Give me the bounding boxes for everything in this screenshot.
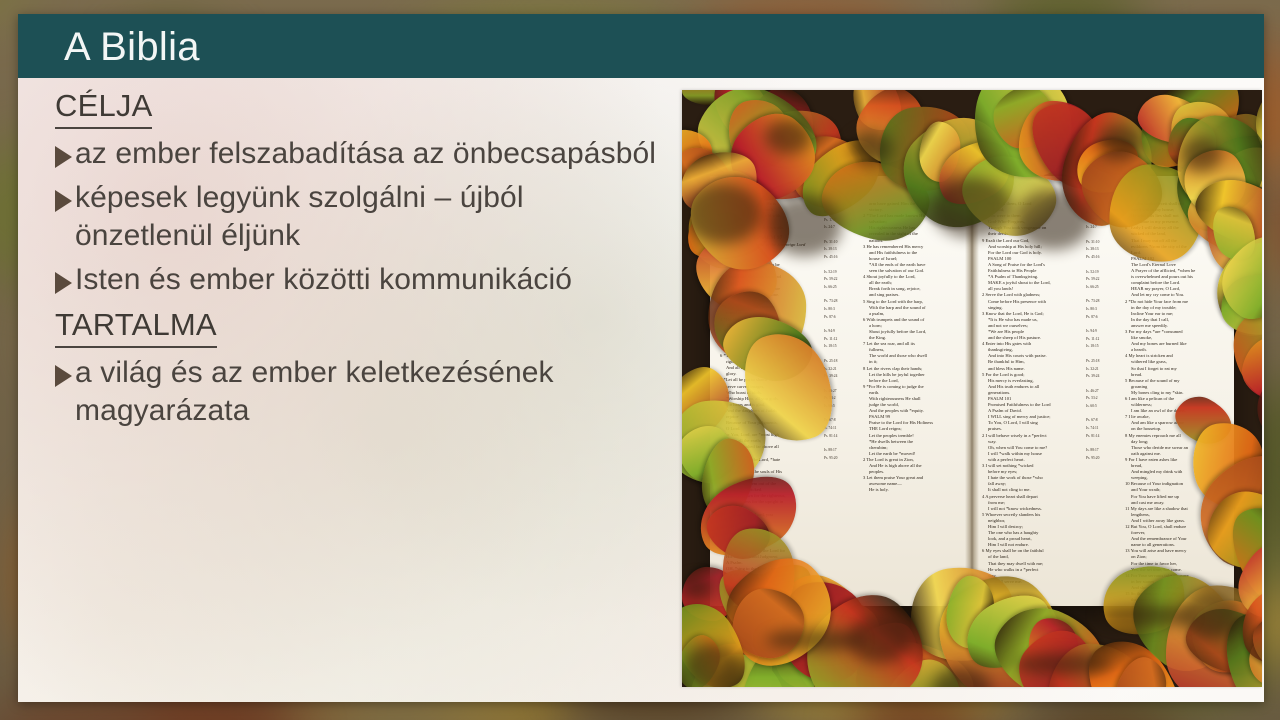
section-heading-row: TARTALMA (38, 305, 668, 350)
cross-reference-mark: Ps. 67:8 (1086, 418, 1120, 424)
list-item-label: képesek legyünk szolgálni – újból önzetl… (75, 179, 668, 255)
leaf-shadow-gap (1097, 125, 1142, 160)
cross-reference-mark: Ps. 87:6 (824, 315, 858, 321)
leaf-shadow-gap (682, 577, 712, 599)
cross-reference-mark: Ps. 25:18 (824, 359, 858, 365)
cross-reference-mark: Ps. 81:14 (1086, 434, 1120, 440)
cross-reference-mark: Ps. 95:20 (824, 456, 858, 462)
slide-body-content: CÉLJA az ember felszabadítása az önbecsa… (38, 86, 668, 436)
cross-reference-mark: Is. 46:27 (1086, 389, 1120, 395)
cross-reference-mark: Is. 32:21 (1086, 367, 1120, 373)
list-item: Isten és ember közötti kommunikáció (38, 261, 668, 299)
triangle-bullet-icon (55, 272, 72, 294)
leaf-shadow-gap (767, 195, 842, 256)
slide-canvas: A Biblia CÉLJA az ember felszabadítása a… (18, 14, 1264, 702)
triangle-bullet-icon (55, 190, 72, 212)
slide-title-bar: A Biblia (18, 14, 1264, 78)
section-heading-tartalma: TARTALMA (55, 305, 217, 348)
cross-reference-mark: Is. 94:9 (824, 329, 858, 335)
cross-reference-mark: Is. 18:15 (1086, 344, 1120, 350)
cross-reference-mark: Ps. 11:12 (824, 337, 858, 343)
right-cross-reference-column: Is. 10:1Ps. 17:4Is. 24:7Ps. 31:10Is. 38:… (1086, 201, 1120, 603)
leaf-shadow-gap (766, 629, 862, 651)
section-heading-row: CÉLJA (38, 86, 668, 131)
list-item: képesek legyünk szolgálni – újból önzetl… (38, 179, 668, 255)
cross-reference-mark: Is. 88:17 (1086, 448, 1120, 454)
cross-reference-mark: Ps. 45:16 (1086, 255, 1120, 261)
list-item: a világ és az ember keletkezésének magya… (38, 354, 668, 430)
right-col-a: answered them, O Lordour God;You were to… (982, 201, 1081, 603)
cross-reference-mark: Ps. 73:28 (824, 299, 858, 305)
cross-reference-mark: Is. 60:5 (1086, 404, 1120, 410)
cross-reference-mark: Is. 80:3 (824, 307, 858, 313)
cross-reference-mark: Is. 38:13 (1086, 247, 1120, 253)
cross-reference-mark: Ps. 59:22 (824, 277, 858, 283)
bible-autumn-photo: PSALM 96:13 526 11 For He is coming, for… (682, 90, 1262, 687)
triangle-bullet-icon (55, 146, 72, 168)
cross-reference-mark: Ps. 45:16 (824, 255, 858, 261)
cross-reference-mark: Is. 74:11 (824, 426, 858, 432)
right-refs: Is. 10:1Ps. 17:4Is. 24:7Ps. 31:10Is. 38:… (1086, 210, 1120, 461)
leaf-shadow-gap (931, 177, 1012, 238)
section-heading-celja: CÉLJA (55, 86, 152, 129)
cross-reference-mark: Ps. 25:18 (1086, 359, 1120, 365)
list-item: az ember felszabadítása az önbecsapásból (38, 135, 668, 173)
cross-reference-mark: Is. 52:19 (824, 270, 858, 276)
cross-reference-mark: Is. 66:25 (1086, 285, 1120, 291)
cross-reference-mark: Ps. 59:22 (1086, 277, 1120, 283)
cross-reference-mark: Ps. 53:2 (1086, 396, 1120, 402)
cross-reference-mark: Is. 80:3 (1086, 307, 1120, 313)
left-col-b: arm have gained Him thevictory.2 *The Lo… (863, 201, 962, 591)
leaf-shadow-gap (683, 183, 762, 244)
cross-reference-mark: Ps. 11:12 (1086, 337, 1120, 343)
cross-reference-mark: Ps. 73:28 (1086, 299, 1120, 305)
cross-reference-mark: Is. 74:11 (1086, 426, 1120, 432)
leaf-shadow-gap (1181, 137, 1222, 172)
leaf-shadow-gap (1014, 653, 1112, 675)
cross-reference-mark: Is. 66:25 (824, 285, 858, 291)
left-second-col-lines: arm have gained Him thevictory.2 *The Lo… (863, 201, 962, 494)
cross-reference-mark: Ps. 87:6 (1086, 315, 1120, 321)
list-item-label: a világ és az ember keletkezésének magya… (75, 354, 668, 430)
cross-reference-mark: Is. 52:19 (1086, 270, 1120, 276)
leaf-shadow-gap (684, 643, 742, 687)
page-title: A Biblia (64, 25, 200, 69)
photo-inner: PSALM 96:13 526 11 For He is coming, for… (682, 90, 1262, 687)
cross-reference-mark: Ps. 81:14 (824, 434, 858, 440)
list-item-label: az ember felszabadítása az önbecsapásból (75, 135, 656, 173)
cross-reference-mark: Is. 18:15 (824, 344, 858, 350)
cross-reference-mark: Ps. 39:24 (824, 374, 858, 380)
cross-reference-mark: Ps. 95:20 (1086, 456, 1120, 462)
cross-reference-mark: Is. 32:21 (824, 367, 858, 373)
leaf-shadow-gap (765, 119, 812, 154)
leaf-shadow-gap (849, 131, 892, 166)
bible-text-line: He is holy. (863, 487, 962, 493)
list-item-label: Isten és ember közötti kommunikáció (75, 261, 572, 299)
triangle-bullet-icon (55, 365, 72, 387)
leaf-shadow-gap (1015, 189, 1092, 250)
right-first-col-lines: answered them, O Lordour God;You were to… (982, 201, 1081, 585)
cross-reference-mark: Is. 88:17 (824, 448, 858, 454)
leaf-shadow-gap (1098, 605, 1192, 627)
cross-reference-mark: Ps. 39:24 (1086, 374, 1120, 380)
cross-reference-mark: Is. 94:9 (1086, 329, 1120, 335)
